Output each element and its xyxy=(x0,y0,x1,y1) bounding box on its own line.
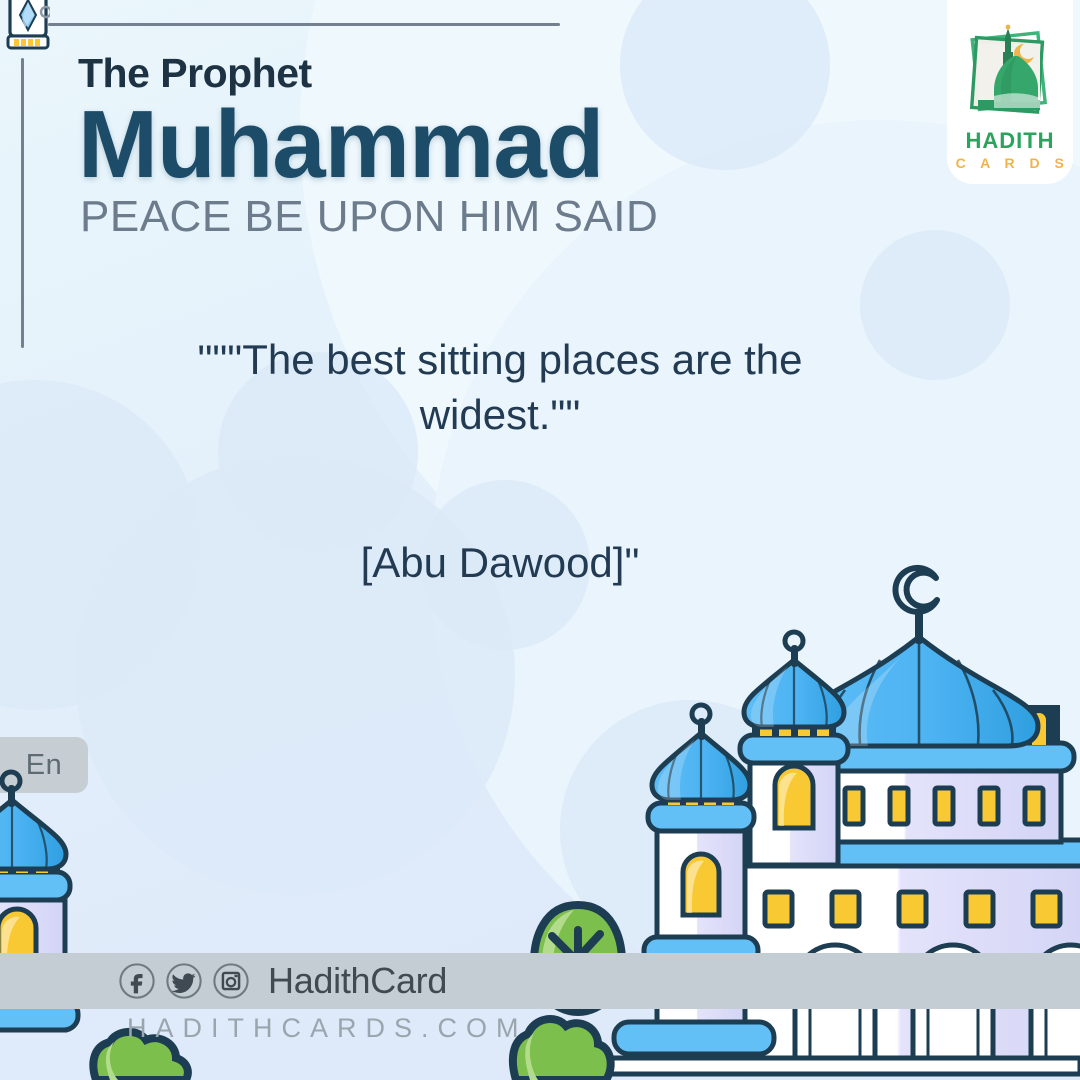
facebook-icon[interactable] xyxy=(118,962,156,1000)
hadith-card: The Prophet Muhammad PEACE BE UPON HIM S… xyxy=(0,0,1080,1080)
bush-center xyxy=(513,1019,611,1080)
mosque-middle-minaret xyxy=(740,632,848,865)
footer-url: HADITHCARDS.COM xyxy=(127,1013,528,1044)
instagram-icon[interactable] xyxy=(212,962,250,1000)
mosque-illustration xyxy=(0,0,1080,1080)
twitter-icon[interactable] xyxy=(165,962,203,1000)
footer-social-group: HadithCard xyxy=(118,958,447,1004)
footer-handle: HadithCard xyxy=(268,960,447,1002)
